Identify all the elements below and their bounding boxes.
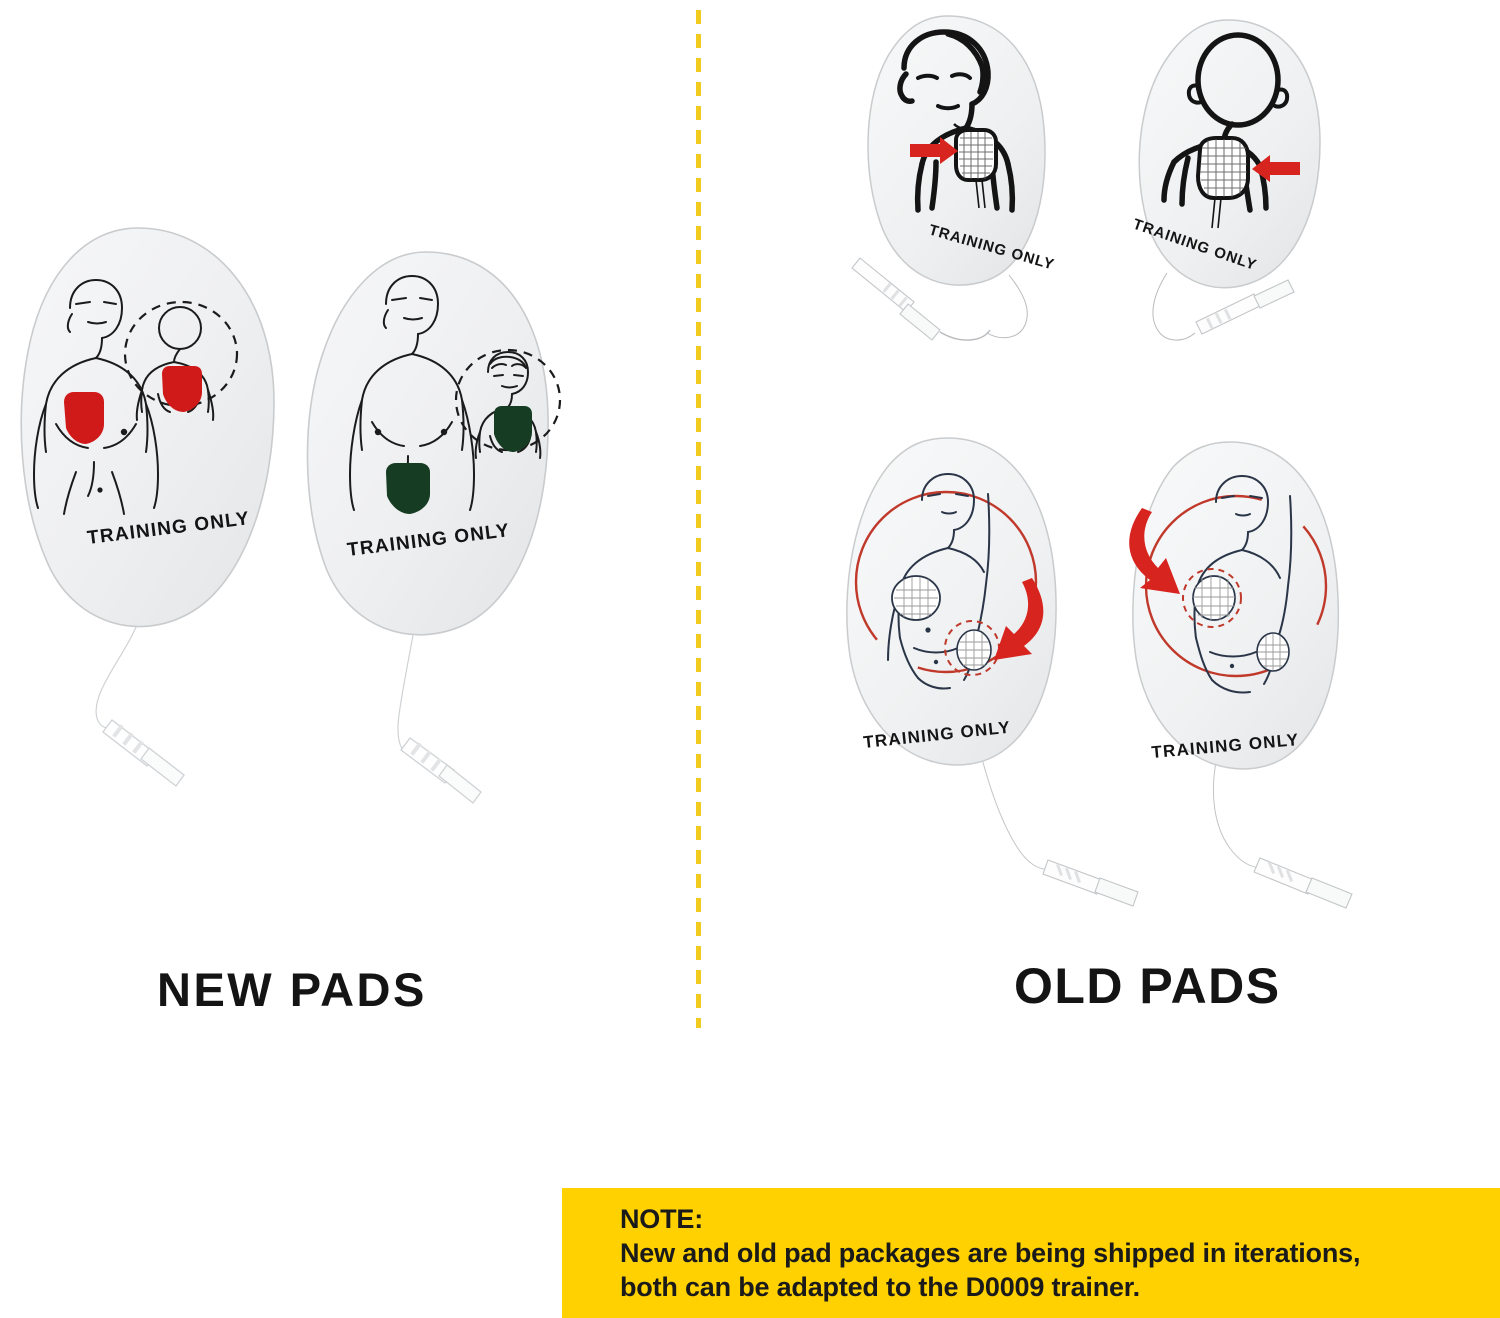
note-banner: NOTE: New and old pad packages are being… (562, 1188, 1500, 1318)
pad-connector (1196, 280, 1294, 334)
pad-connector (1254, 858, 1352, 908)
note-line-1: New and old pad packages are being shipp… (620, 1236, 1500, 1270)
pad-connector (401, 738, 481, 803)
new-pads-caption: NEW PADS (157, 962, 427, 1017)
pad-cable (1212, 758, 1262, 868)
pad-old-back-child[interactable]: TRAINING ONLY (1108, 18, 1438, 418)
old-pads-caption: OLD PADS (1014, 957, 1281, 1015)
product-comparison-figure: TRAINING ONLY (0, 0, 1500, 1318)
hatched-electrode-lower (1257, 633, 1289, 671)
pad-connector (103, 720, 184, 786)
pad-body (1133, 442, 1339, 769)
pad-cable (986, 276, 1026, 339)
note-heading: NOTE: (620, 1202, 1500, 1236)
pad-new-adult-green[interactable]: TRAINING ONLY (298, 246, 718, 826)
note-line-2: both can be adapted to the D0009 trainer… (620, 1270, 1500, 1304)
pad-cable (980, 756, 1050, 870)
pad-body (847, 438, 1056, 765)
pad-old-adult-sternum[interactable]: TRAINING ONLY (1104, 440, 1464, 920)
hatched-electrode-upper (892, 576, 940, 620)
